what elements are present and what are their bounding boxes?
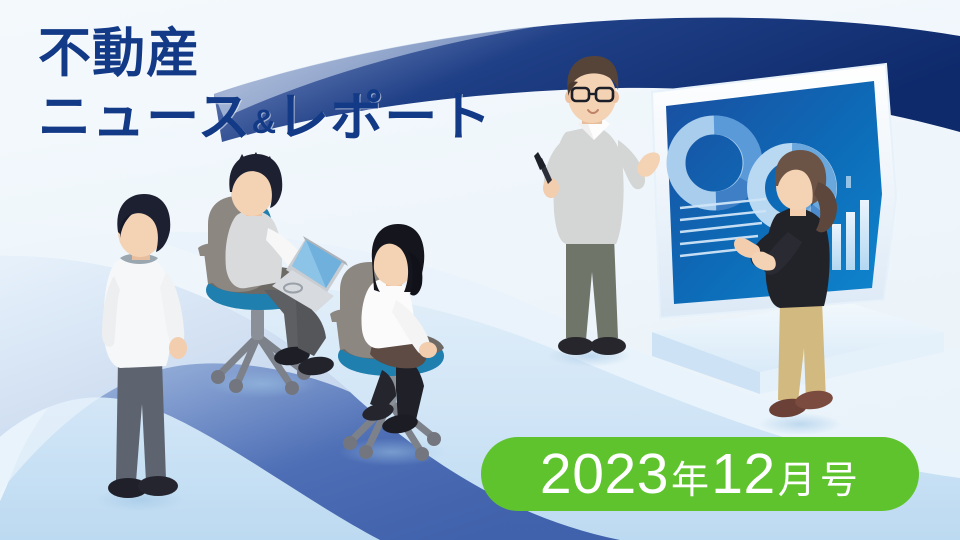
issue-month-unit: 月 [776,449,818,504]
issue-month: 12 [711,441,776,507]
seated-laptop-user [225,152,348,377]
title-line-one: 不動産 [38,26,492,82]
issue-badge: 2023年12月号 [481,437,919,511]
issue-badge-text: 2023年12月号 [540,441,860,507]
page-title: 不動産 ニュース&レポート [38,26,492,146]
title-line-two: ニュース&レポート [38,90,492,146]
seated-attendee [361,224,437,436]
issue-year: 2023 [540,441,669,507]
title-ampersand: & [252,103,277,141]
title-line-two-after: レポート [276,88,492,147]
issue-year-unit: 年 [669,449,711,504]
presenter [534,56,660,367]
standing-observer [96,194,187,512]
poster-canvas: 不動産 ニュース&レポート [0,0,960,540]
issue-suffix: 号 [818,449,860,504]
title-line-two-before: ニュース [38,88,252,147]
